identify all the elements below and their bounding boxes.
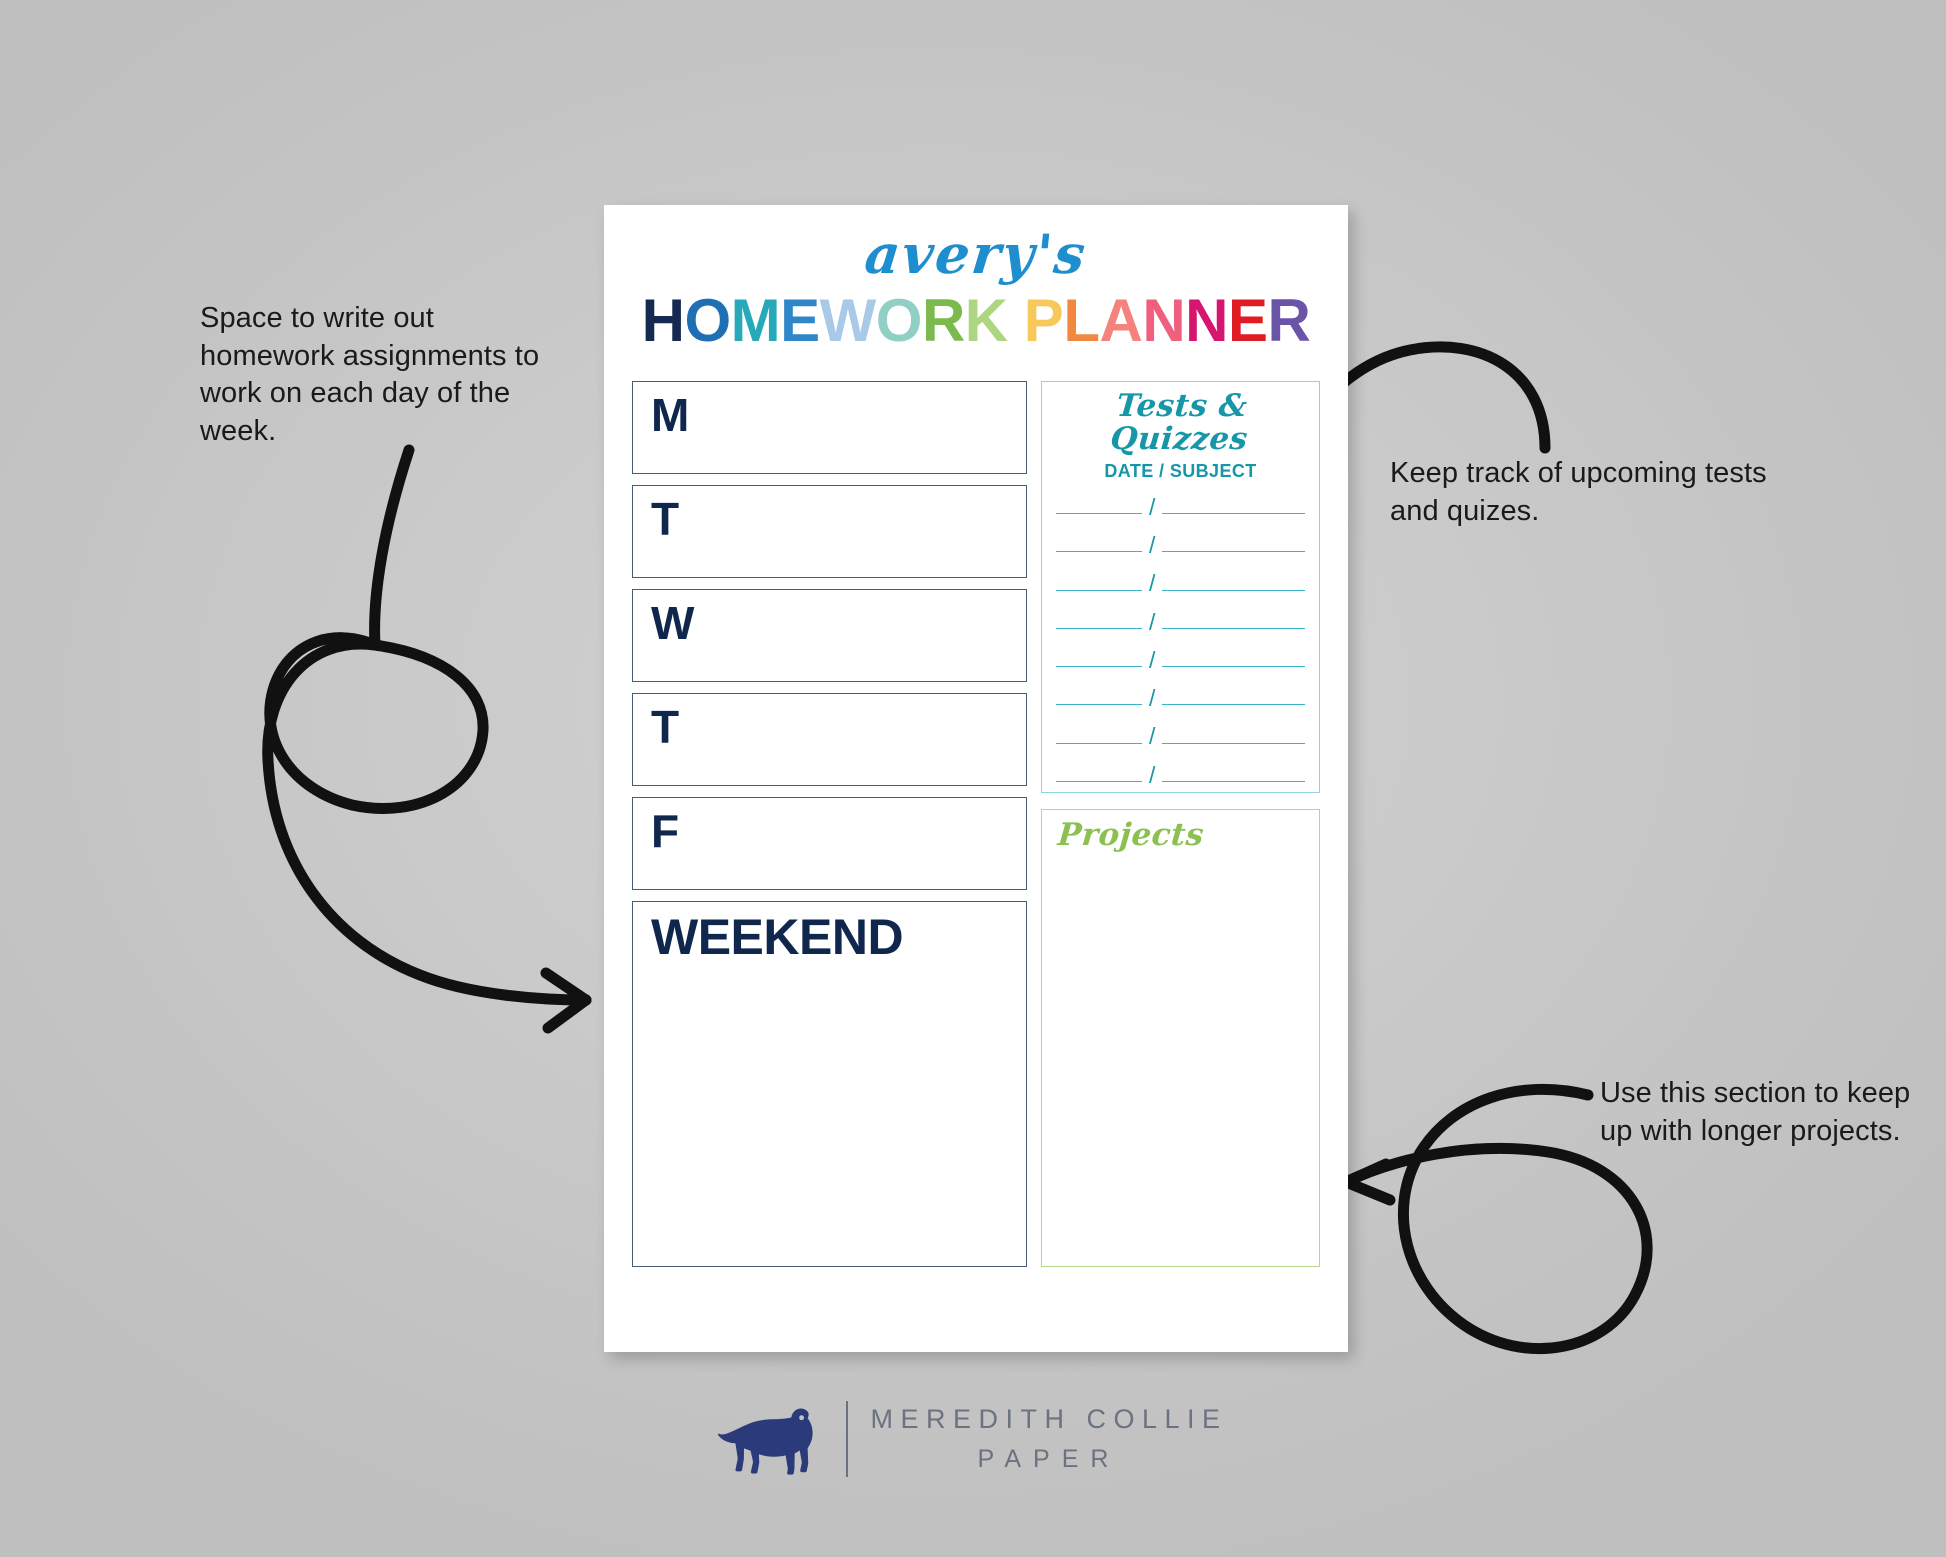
- tests-date-blank[interactable]: [1056, 665, 1142, 667]
- tests-subtitle: DATE / SUBJECT: [1056, 461, 1305, 482]
- side-column: Tests & Quizzes DATE / SUBJECT //////// …: [1041, 381, 1320, 1267]
- tests-separator: /: [1149, 689, 1155, 707]
- tests-subject-blank[interactable]: [1162, 550, 1305, 552]
- day-box-friday[interactable]: F: [632, 797, 1027, 890]
- tests-date-blank[interactable]: [1056, 627, 1142, 629]
- brand-subtitle: PAPER: [870, 1445, 1227, 1474]
- footer-logo: MEREDITH COLLIE PAPER: [0, 1400, 1946, 1478]
- tests-and-quizzes-box[interactable]: Tests & Quizzes DATE / SUBJECT ////////: [1041, 381, 1320, 793]
- day-label-monday: M: [651, 392, 1026, 438]
- planner-body: M T W T F WEEKEND Tests & Quizzes DATE /…: [604, 351, 1348, 1291]
- title-letter-11: A: [1099, 287, 1142, 354]
- day-box-tuesday[interactable]: T: [632, 485, 1027, 578]
- tests-line-row[interactable]: /: [1056, 494, 1305, 514]
- tests-separator: /: [1149, 727, 1155, 745]
- tests-title: Tests & Quizzes: [1053, 390, 1308, 455]
- annotation-tests-text: Keep track of upcoming tests and quizes.: [1390, 455, 1780, 530]
- student-name: avery's: [601, 227, 1351, 281]
- page-header: avery's HOMEWORK PLANNER: [604, 205, 1348, 351]
- tests-line-row[interactable]: /: [1056, 571, 1305, 591]
- annotation-days-text: Space to write out homework assignments …: [200, 300, 570, 451]
- tests-subject-blank[interactable]: [1162, 742, 1305, 744]
- title-letter-8: [1008, 287, 1024, 354]
- day-label-weekend: WEEKEND: [651, 912, 1026, 962]
- tests-separator: /: [1149, 536, 1155, 554]
- tests-lines-list: ////////: [1056, 494, 1305, 782]
- tests-line-row[interactable]: /: [1056, 762, 1305, 782]
- title-letter-6: R: [922, 287, 965, 354]
- tests-subject-blank[interactable]: [1162, 589, 1305, 591]
- tests-subject-blank[interactable]: [1162, 627, 1305, 629]
- tests-separator: /: [1149, 651, 1155, 669]
- day-box-weekend[interactable]: WEEKEND: [632, 901, 1027, 1267]
- day-label-friday: F: [651, 808, 1026, 854]
- title-letter-12: N: [1142, 287, 1185, 354]
- tests-separator: /: [1149, 498, 1155, 516]
- day-label-tuesday: T: [651, 496, 1026, 542]
- title-letter-3: E: [780, 287, 820, 354]
- page-title: HOMEWORK PLANNER: [604, 291, 1348, 351]
- brand-name: MEREDITH COLLIE: [870, 1404, 1227, 1435]
- title-letter-15: R: [1268, 287, 1311, 354]
- annotation-projects-text: Use this section to keep up with longer …: [1600, 1075, 1930, 1150]
- tests-line-row[interactable]: /: [1056, 609, 1305, 629]
- title-letter-1: O: [684, 287, 730, 354]
- tests-date-blank[interactable]: [1056, 589, 1142, 591]
- title-letter-13: N: [1185, 287, 1228, 354]
- title-letter-4: W: [820, 287, 876, 354]
- title-letter-5: O: [876, 287, 922, 354]
- day-box-monday[interactable]: M: [632, 381, 1027, 474]
- tests-date-blank[interactable]: [1056, 512, 1142, 514]
- projects-title: Projects: [1057, 820, 1305, 851]
- tests-separator: /: [1149, 766, 1155, 784]
- title-letter-14: E: [1228, 287, 1268, 354]
- day-label-thursday: T: [651, 704, 1026, 750]
- tests-line-row[interactable]: /: [1056, 685, 1305, 705]
- tests-line-row[interactable]: /: [1056, 532, 1305, 552]
- logo-divider: [846, 1401, 848, 1477]
- title-letter-7: K: [965, 287, 1008, 354]
- tests-date-blank[interactable]: [1056, 703, 1142, 705]
- day-box-thursday[interactable]: T: [632, 693, 1027, 786]
- tests-date-blank[interactable]: [1056, 742, 1142, 744]
- day-box-wednesday[interactable]: W: [632, 589, 1027, 682]
- tests-date-blank[interactable]: [1056, 550, 1142, 552]
- days-column: M T W T F WEEKEND: [632, 381, 1027, 1267]
- tests-subject-blank[interactable]: [1162, 703, 1305, 705]
- tests-separator: /: [1149, 613, 1155, 631]
- tests-line-row[interactable]: /: [1056, 724, 1305, 744]
- planner-page: avery's HOMEWORK PLANNER M T W T F WEEKE…: [604, 205, 1348, 1352]
- tests-subject-blank[interactable]: [1162, 512, 1305, 514]
- tests-subject-blank[interactable]: [1162, 665, 1305, 667]
- day-label-wednesday: W: [651, 600, 1026, 646]
- tests-separator: /: [1149, 574, 1155, 592]
- projects-box[interactable]: Projects: [1041, 809, 1320, 1267]
- title-letter-9: P: [1024, 287, 1064, 354]
- tests-date-blank[interactable]: [1056, 780, 1142, 782]
- dog-icon: [718, 1400, 826, 1478]
- tests-subject-blank[interactable]: [1162, 780, 1305, 782]
- logo-text: MEREDITH COLLIE PAPER: [870, 1404, 1227, 1474]
- title-letter-2: M: [731, 287, 780, 354]
- title-letter-10: L: [1063, 287, 1099, 354]
- title-letter-0: H: [642, 287, 685, 354]
- tests-line-row[interactable]: /: [1056, 647, 1305, 667]
